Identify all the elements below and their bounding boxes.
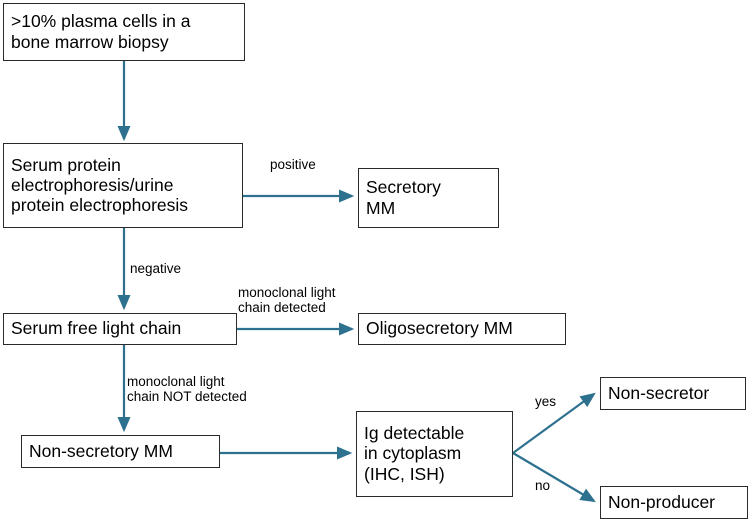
node-oligosecretory-mm: Oligosecretory MM [358, 313, 566, 345]
node-non-secretor: Non-secretor [600, 377, 746, 410]
edge-label-monoclonal-light-chain-not-detected: monoclonal light chain NOT detected [127, 374, 247, 404]
edge-label-negative: negative [130, 261, 181, 276]
edge-ig-to-nonproducer [513, 453, 594, 501]
edge-label-no: no [535, 478, 550, 493]
node-non-producer: Non-producer [600, 486, 748, 519]
node-serum-protein-electrophoresis: Serum protein electrophoresis/urine prot… [3, 143, 243, 228]
node-serum-free-light-chain: Serum free light chain [3, 313, 237, 345]
edge-label-yes: yes [535, 394, 556, 409]
node-ig-detectable-in-cytoplasm: Ig detectable in cytoplasm (IHC, ISH) [356, 411, 513, 497]
node-non-secretory-mm: Non-secretory MM [21, 435, 220, 468]
node-bone-marrow-biopsy: >10% plasma cells in a bone marrow biops… [3, 3, 245, 61]
edge-label-positive: positive [270, 157, 316, 172]
node-secretory-mm: Secretory MM [358, 168, 499, 228]
flowchart-canvas: >10% plasma cells in a bone marrow biops… [0, 0, 750, 522]
edge-label-monoclonal-light-chain-detected: monoclonal light chain detected [238, 285, 336, 315]
